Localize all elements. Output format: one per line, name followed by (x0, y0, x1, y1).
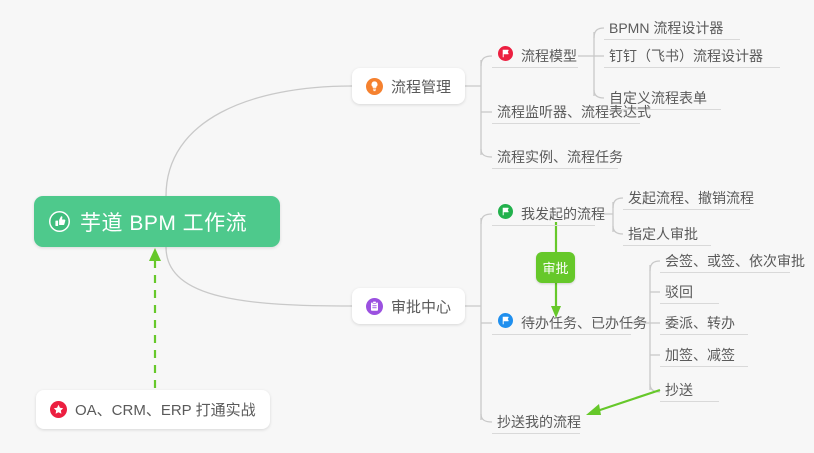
node-todo-done-tasks[interactable]: 待办任务、已办任务 (492, 310, 631, 335)
node-label-todo-done-tasks: 待办任务、已办任务 (521, 315, 647, 331)
node-label-start-cancel-process: 发起流程、撤销流程 (628, 190, 754, 206)
node-my-started-process[interactable]: 我发起的流程 (492, 201, 595, 226)
root-label: 芋道 BPM 工作流 (80, 207, 247, 237)
node-reject[interactable]: 驳回 (660, 279, 719, 304)
connector-approval-child1 (481, 214, 492, 224)
node-start-cancel-process[interactable]: 发起流程、撤销流程 (623, 185, 750, 210)
approve-badge-label: 审批 (542, 258, 568, 277)
arrow-cc-head (586, 404, 601, 415)
arrow-cc-line (597, 390, 660, 411)
approve-badge[interactable]: 审批 (536, 252, 575, 283)
footnote-label: OA、CRM、ERP 打通实战 (75, 399, 256, 420)
clipboard-icon (366, 298, 383, 315)
connector-root-to-approval (166, 247, 352, 306)
branch-label-process-management: 流程管理 (391, 76, 451, 97)
flag-icon-blue (497, 312, 514, 329)
connector-process-branch-model (481, 56, 492, 66)
node-label-process-instance: 流程实例、流程任务 (497, 149, 623, 165)
node-countersign[interactable]: 会签、或签、依次审批 (660, 248, 790, 273)
node-delegate-transfer[interactable]: 委派、转办 (660, 310, 748, 335)
thumbs-up-icon (49, 211, 70, 232)
connector-started-child1 (613, 198, 623, 208)
node-cc-to-me[interactable]: 抄送我的流程 (492, 409, 580, 434)
footnote-node-integration[interactable]: OA、CRM、ERP 打通实战 (36, 390, 270, 429)
node-label-cc-to-me: 抄送我的流程 (497, 414, 581, 430)
node-label-dingtalk-designer: 钉钉（飞书）流程设计器 (609, 48, 763, 64)
node-cc[interactable]: 抄送 (660, 377, 719, 402)
node-add-remove-sign[interactable]: 加签、减签 (660, 342, 748, 367)
connector-approval-child3 (481, 414, 492, 422)
node-process-instance[interactable]: 流程实例、流程任务 (492, 144, 618, 169)
node-label-reject: 驳回 (665, 284, 693, 300)
flag-icon-red (497, 45, 514, 62)
mindmap-canvas: 芋道 BPM 工作流 流程管理 流程模型 BPMN 流程设计器 钉钉（飞书）流程… (0, 0, 814, 453)
star-icon (50, 401, 67, 418)
branch-node-approval-center[interactable]: 审批中心 (352, 288, 465, 324)
connector-started-child2 (613, 226, 623, 234)
node-process-model[interactable]: 流程模型 (492, 43, 578, 68)
node-label-delegate-transfer: 委派、转办 (665, 315, 735, 331)
node-label-my-started-process: 我发起的流程 (521, 206, 605, 222)
arrow-footnote-head (149, 248, 161, 261)
node-label-add-remove-sign: 加签、减签 (665, 347, 735, 363)
branch-node-process-management[interactable]: 流程管理 (352, 68, 465, 104)
node-label-countersign: 会签、或签、依次审批 (665, 253, 805, 269)
connector-process-branch-instance (481, 149, 492, 157)
lightbulb-icon (366, 78, 383, 95)
node-label-bpmn-designer: BPMN 流程设计器 (609, 20, 723, 36)
node-label-process-listener: 流程监听器、流程表达式 (497, 104, 651, 120)
node-label-cc: 抄送 (665, 382, 693, 398)
node-bpmn-designer[interactable]: BPMN 流程设计器 (604, 15, 740, 40)
node-process-listener[interactable]: 流程监听器、流程表达式 (492, 99, 640, 124)
connector-model-child3 (594, 90, 604, 98)
node-assignee-approval[interactable]: 指定人审批 (623, 221, 711, 246)
connector-todo-child5 (650, 384, 660, 392)
flag-icon-green (497, 203, 514, 220)
connector-root-to-process (166, 86, 352, 196)
branch-label-approval-center: 审批中心 (391, 296, 451, 317)
node-label-process-model: 流程模型 (521, 48, 577, 64)
connector-todo-child1 (650, 261, 660, 271)
root-node[interactable]: 芋道 BPM 工作流 (34, 196, 280, 247)
connector-model-child1 (594, 28, 604, 38)
node-label-assignee-approval: 指定人审批 (628, 226, 698, 242)
node-dingtalk-designer[interactable]: 钉钉（飞书）流程设计器 (604, 43, 780, 68)
